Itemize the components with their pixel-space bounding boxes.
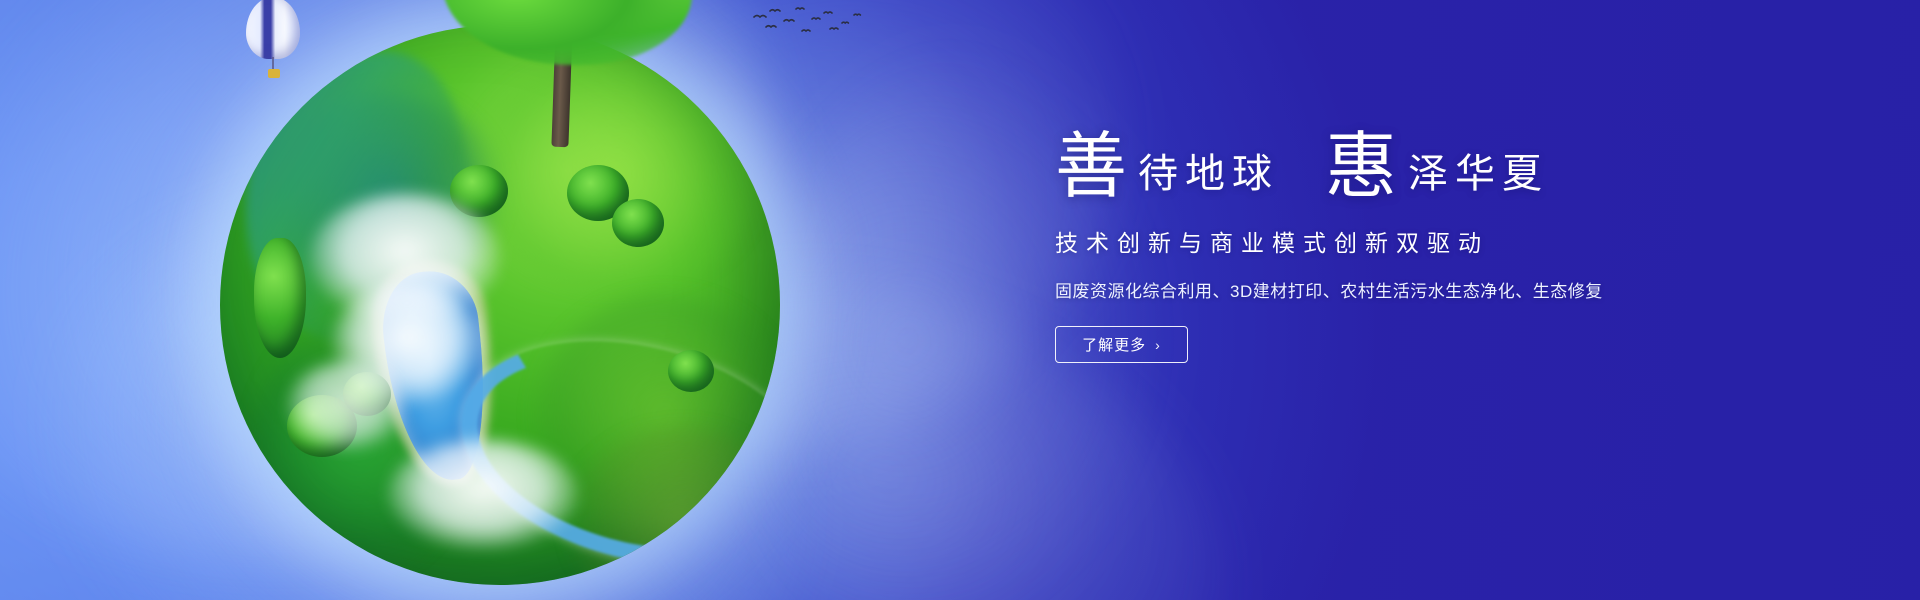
surface-cloud-icon [287,361,407,451]
balloon-basket [268,69,280,78]
page-title: 善 待地球 惠 泽华夏 [1055,130,1815,202]
surface-cloud-icon [388,439,578,549]
headline-large-char-2: 惠 [1325,130,1398,202]
tree-clump-icon [612,199,664,247]
subtitle: 技术创新与商业模式创新双驱动 [1055,224,1815,258]
tree-clump-icon [668,350,714,392]
large-tree-icon [442,0,692,155]
description-text: 固废资源化综合利用、3D建材打印、农村生活污水生态净化、生态修复 [1055,277,1815,302]
tree-canopy [442,0,692,65]
tree-clump-icon [254,238,306,358]
chevron-right-icon: › [1155,338,1161,352]
hero-copy: 善 待地球 惠 泽华夏 技术创新与商业模式创新双驱动 固废资源化综合利用、3D建… [1055,130,1815,363]
hero-banner: 善 待地球 惠 泽华夏 技术创新与商业模式创新双驱动 固废资源化综合利用、3D建… [0,0,1920,600]
birds-flock-icon [750,3,870,43]
headline-large-char-1: 善 [1055,130,1128,202]
balloon-envelope [246,0,300,59]
headline-small-text-2: 泽华夏 [1408,154,1549,194]
headline-small-text-1: 待地球 [1138,154,1279,194]
tiny-planet-illustration [150,0,850,600]
learn-more-button[interactable]: 了解更多 › [1055,326,1188,363]
learn-more-label: 了解更多 [1082,334,1146,355]
hot-air-balloon-icon [246,0,300,89]
